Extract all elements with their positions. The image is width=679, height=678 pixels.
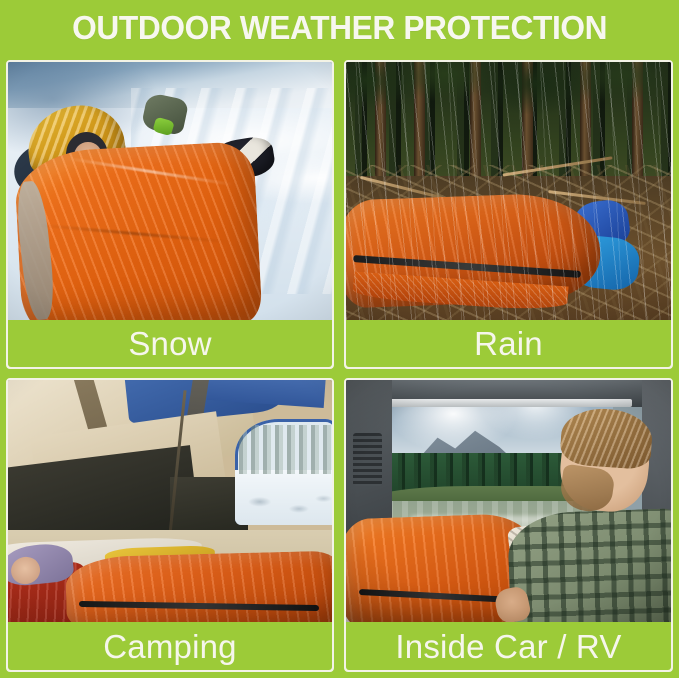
photo-vignette-inner <box>346 380 671 622</box>
caption-band-rain: Rain <box>346 320 671 367</box>
panel-camping: Camping <box>0 373 339 678</box>
caption-label-snow: Snow <box>128 327 211 360</box>
scene-snow <box>8 62 332 320</box>
panel-camping-inner: Camping <box>6 378 334 672</box>
panel-snow-photo <box>8 62 332 320</box>
window-snow-marks <box>235 489 332 521</box>
window-trees <box>235 425 332 474</box>
panel-snow-inner: Snow <box>6 60 334 369</box>
panel-snow: Snow <box>0 56 339 373</box>
caption-band-inside-car-rv: Inside Car / RV <box>346 622 671 670</box>
page-title: OUTDOOR WEATHER PROTECTION <box>72 9 607 47</box>
rain-streaks-far <box>346 62 671 320</box>
feature-grid: Snow <box>0 56 679 678</box>
panel-camping-photo <box>8 380 332 622</box>
scene-inside-car-rv <box>346 380 671 622</box>
panel-rain-inner: Rain <box>344 60 673 369</box>
caption-band-camping: Camping <box>8 622 332 670</box>
caption-label-camping: Camping <box>103 630 236 663</box>
panel-inside-car-rv: Inside Car / RV <box>339 373 679 678</box>
scene-camping <box>8 380 332 622</box>
header-banner: OUTDOOR WEATHER PROTECTION <box>0 0 679 56</box>
scene-rain <box>346 62 671 320</box>
caption-band-snow: Snow <box>8 320 332 367</box>
caption-label-inside-car-rv: Inside Car / RV <box>395 630 621 663</box>
tent-window <box>235 419 332 525</box>
panel-inside-car-rv-inner: Inside Car / RV <box>344 378 673 672</box>
panel-rain: Rain <box>339 56 679 373</box>
caption-label-rain: Rain <box>474 327 543 360</box>
panel-inside-car-rv-photo <box>346 380 671 622</box>
orange-bivvy-sack <box>65 551 332 622</box>
panel-rain-photo <box>346 62 671 320</box>
infographic-root: OUTDOOR WEATHER PROTECTION <box>0 0 679 678</box>
